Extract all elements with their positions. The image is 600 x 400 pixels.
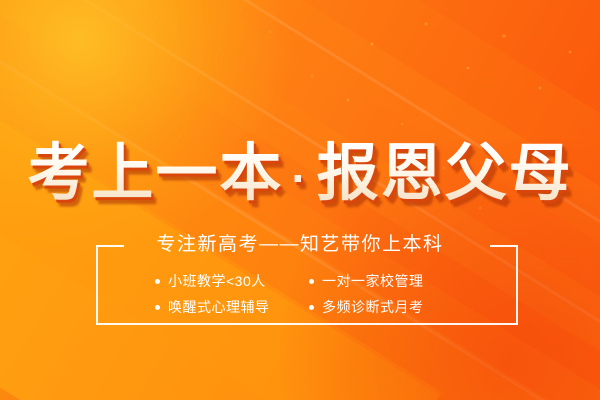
bullet-icon <box>309 279 314 284</box>
feature-item: 小班教学<30人 <box>155 268 295 294</box>
feature-label: 多频诊断式月考 <box>322 294 424 320</box>
feature-label: 一对一家校管理 <box>322 268 424 294</box>
feature-label: 小班教学<30人 <box>168 268 266 294</box>
subtitle: 专注新高考——知艺带你上本科 <box>0 231 600 259</box>
feature-item: 多频诊断式月考 <box>309 294 459 320</box>
bullet-icon <box>155 279 160 284</box>
headline-separator-dot: · <box>283 152 316 204</box>
promo-banner: 考上一本·报恩父母 专注新高考——知艺带你上本科 小班教学<30人 一对一家校管… <box>0 0 600 400</box>
headline-right-text: 报恩父母 <box>317 139 573 208</box>
feature-label: 唤醒式心理辅导 <box>168 294 270 320</box>
feature-item: 唤醒式心理辅导 <box>155 294 295 320</box>
bullet-icon <box>155 305 160 310</box>
headline-left-text: 考上一本 <box>27 139 283 208</box>
feature-list: 小班教学<30人 一对一家校管理 唤醒式心理辅导 多频诊断式月考 <box>96 268 518 320</box>
headline: 考上一本·报恩父母 <box>0 139 600 213</box>
feature-item: 一对一家校管理 <box>309 268 459 294</box>
frame-bottom-edge <box>96 323 518 325</box>
bullet-icon <box>309 305 314 310</box>
